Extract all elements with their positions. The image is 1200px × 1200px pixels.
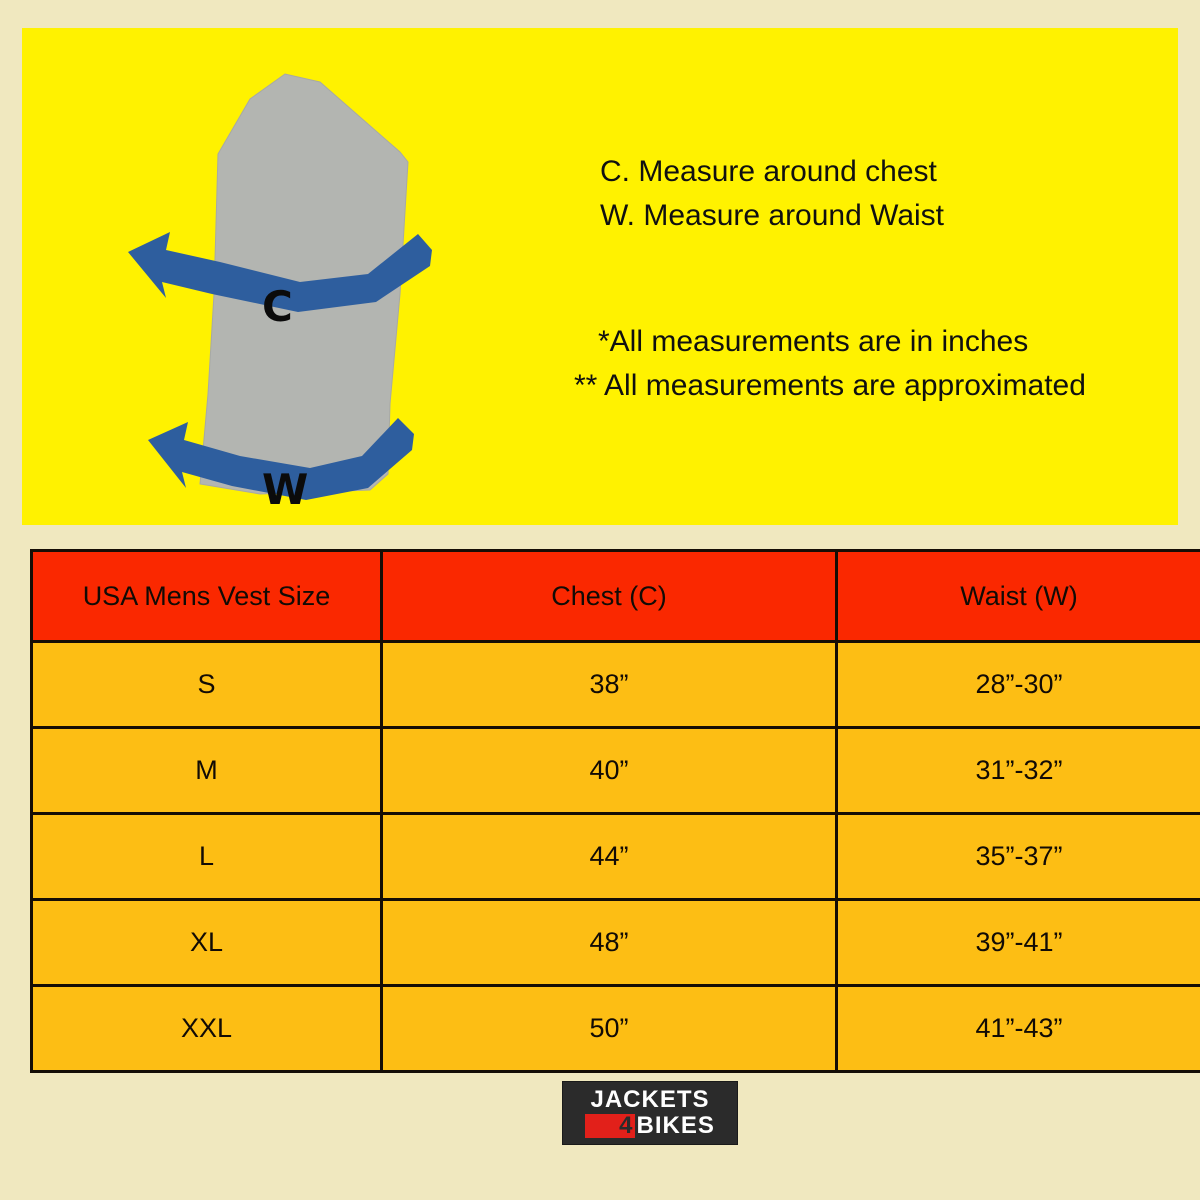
inches-note: *All measurements are in inches xyxy=(574,320,1086,364)
cell-waist: 41”-43” xyxy=(837,986,1200,1072)
cell-size: L xyxy=(32,814,382,900)
waist-instruction: W. Measure around Waist xyxy=(600,194,944,238)
cell-chest: 44” xyxy=(382,814,837,900)
cell-waist: 39”-41” xyxy=(837,900,1200,986)
logo-four-accent: 4 xyxy=(585,1114,634,1138)
cell-waist: 31”-32” xyxy=(837,728,1200,814)
cell-waist: 28”-30” xyxy=(837,642,1200,728)
cell-size: S xyxy=(32,642,382,728)
cell-chest: 40” xyxy=(382,728,837,814)
cell-chest: 38” xyxy=(382,642,837,728)
cell-size: XXL xyxy=(32,986,382,1072)
table-header-row: USA Mens Vest Size Chest (C) Waist (W) xyxy=(32,551,1200,642)
table-row: S 38” 28”-30” xyxy=(32,642,1200,728)
waist-letter-label: W xyxy=(262,469,308,511)
column-header-waist: Waist (W) xyxy=(837,551,1200,642)
logo-bikes-text: BIKES xyxy=(637,1114,715,1138)
logo-bottom-row: 4 BIKES xyxy=(585,1114,715,1138)
chest-instruction: C. Measure around chest xyxy=(600,150,944,194)
table-row: M 40” 31”-32” xyxy=(32,728,1200,814)
chest-letter-label: C xyxy=(262,286,293,328)
cell-chest: 50” xyxy=(382,986,837,1072)
cell-size: M xyxy=(32,728,382,814)
cell-chest: 48” xyxy=(382,900,837,986)
measurement-disclaimers: *All measurements are in inches ** All m… xyxy=(574,320,1086,408)
table-row: L 44” 35”-37” xyxy=(32,814,1200,900)
logo-jackets-text: JACKETS xyxy=(590,1088,709,1112)
torso-vest-diagram: C W xyxy=(100,44,470,514)
column-header-size: USA Mens Vest Size xyxy=(32,551,382,642)
approximation-note: ** All measurements are approximated xyxy=(574,364,1086,408)
cell-size: XL xyxy=(32,900,382,986)
info-panel: C W C. Measure around chest W. Measure a… xyxy=(22,28,1178,525)
column-header-chest: Chest (C) xyxy=(382,551,837,642)
table-row: XL 48” 39”-41” xyxy=(32,900,1200,986)
cell-waist: 35”-37” xyxy=(837,814,1200,900)
size-chart-table: USA Mens Vest Size Chest (C) Waist (W) S… xyxy=(30,549,1200,1073)
table-row: XXL 50” 41”-43” xyxy=(32,986,1200,1072)
brand-logo: JACKETS 4 BIKES xyxy=(562,1081,738,1145)
measure-instructions: C. Measure around chest W. Measure aroun… xyxy=(600,150,944,238)
